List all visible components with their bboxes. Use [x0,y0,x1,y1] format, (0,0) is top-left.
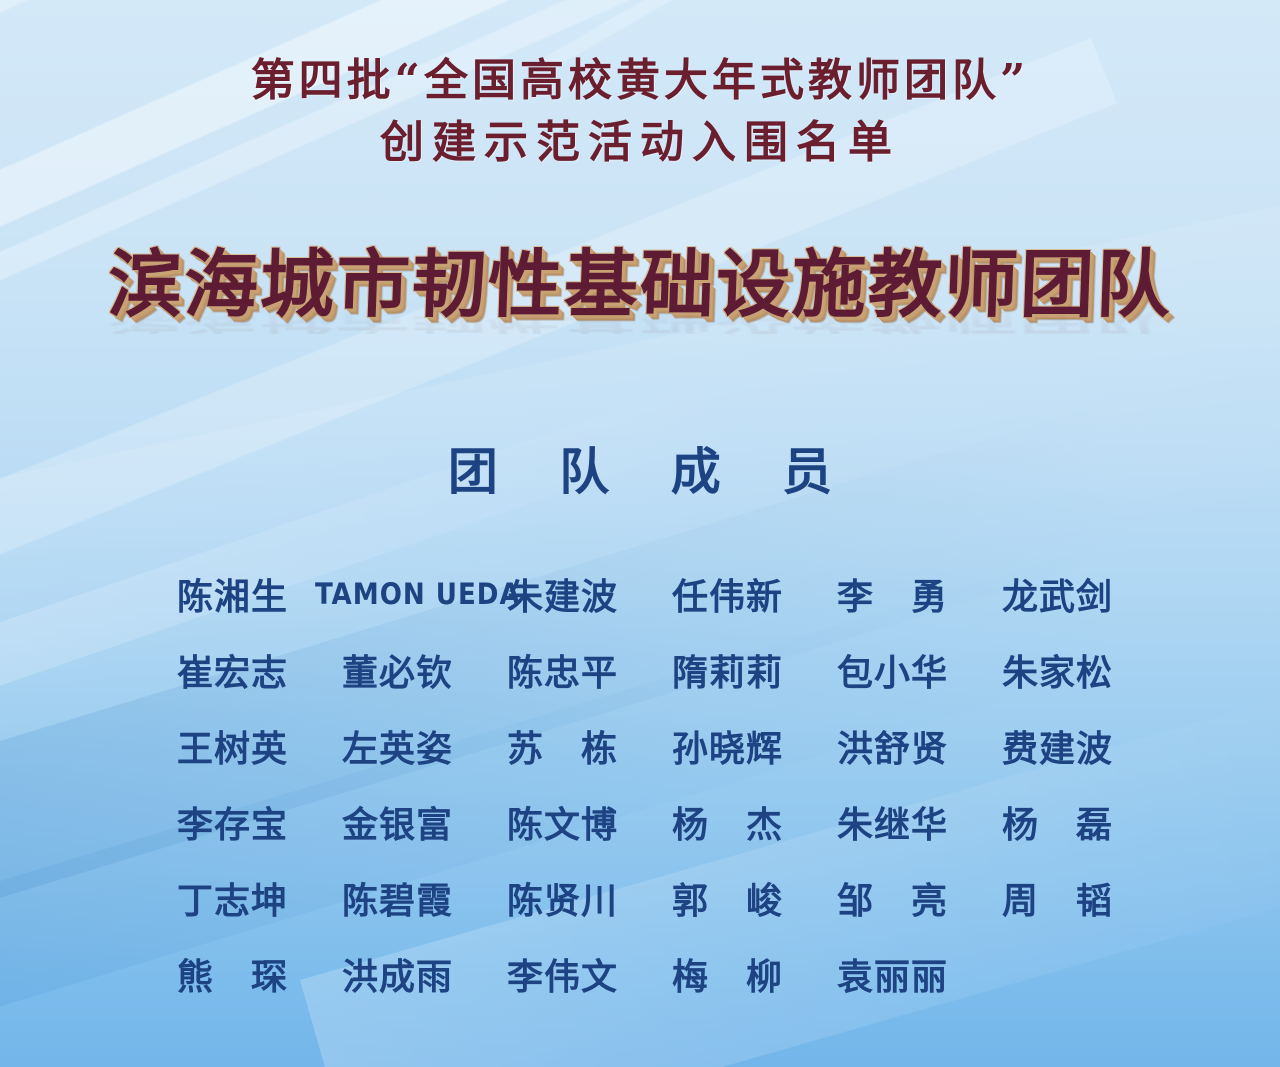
team-member-name: 苏 栋 [480,720,645,772]
team-member-grid: 陈湘生TAMON UEDA朱建波任伟新李 勇龙武剑崔宏志董必钦陈忠平隋莉莉包小华… [150,556,1140,1012]
team-member-name: 龙武剑 [975,568,1140,620]
team-member-name: 洪舒贤 [810,720,975,772]
team-member-name: 杨 杰 [645,796,810,848]
team-member-name: 熊 琛 [150,948,315,1000]
team-member-name: 袁丽丽 [810,948,975,1000]
team-member-name: 李存宝 [150,796,315,848]
team-member-name: 孙晓辉 [645,720,810,772]
team-member-name: 梅 柳 [645,948,810,1000]
slide-header-title: 第四批“全国高校黄大年式教师团队” 创建示范活动入围名单 [0,50,1280,175]
team-member-name: 朱继华 [810,796,975,848]
team-name: 滨海城市韧性基础设施教师团队 [107,248,1174,322]
team-member-name: 隋莉莉 [645,644,810,696]
presentation-slide: 第四批“全国高校黄大年式教师团队” 创建示范活动入围名单 滨海城市韧性基础设施教… [0,0,1280,1067]
section-heading-team-members: 团 队 成 员 [0,432,1280,504]
team-member-name: 陈忠平 [480,644,645,696]
team-member-name: 丁志坤 [150,872,315,924]
team-member-name: 陈文博 [480,796,645,848]
team-member-name: 李伟文 [480,948,645,1000]
team-member-name: 董必钦 [315,644,480,696]
header-title-line-1: 第四批“全国高校黄大年式教师团队” [0,50,1280,112]
team-member-row: 丁志坤陈碧霞陈贤川郭 峻邹 亮周 韬 [150,860,1140,936]
team-member-name: 郭 峻 [645,872,810,924]
team-member-name: 杨 磊 [975,796,1140,848]
team-member-name: 左英姿 [315,720,480,772]
team-name-block: 滨海城市韧性基础设施教师团队 滨海城市韧性基础设施教师团队 [0,248,1280,408]
team-member-name: 任伟新 [645,568,810,620]
team-member-name: 金银富 [315,796,480,848]
team-member-row: 王树英左英姿苏 栋孙晓辉洪舒贤费建波 [150,708,1140,784]
team-member-name: 朱家松 [975,644,1140,696]
team-member-row: 崔宏志董必钦陈忠平隋莉莉包小华朱家松 [150,632,1140,708]
team-member-name: 陈湘生 [150,568,315,620]
team-member-name: 洪成雨 [315,948,480,1000]
team-member-name: TAMON UEDA [315,577,480,611]
team-member-name: 王树英 [150,720,315,772]
team-member-name: 周 韬 [975,872,1140,924]
team-member-row: 熊 琛洪成雨李伟文梅 柳袁丽丽 [150,936,1140,1012]
header-title-line-2: 创建示范活动入围名单 [0,112,1280,174]
team-member-name: 李 勇 [810,568,975,620]
team-member-row: 李存宝金银富陈文博杨 杰朱继华杨 磊 [150,784,1140,860]
team-member-name: 崔宏志 [150,644,315,696]
team-member-name: 费建波 [975,720,1140,772]
team-member-row: 陈湘生TAMON UEDA朱建波任伟新李 勇龙武剑 [150,556,1140,632]
team-member-name: 包小华 [810,644,975,696]
team-member-name: 朱建波 [480,568,645,620]
team-member-name: 陈贤川 [480,872,645,924]
team-member-name: 陈碧霞 [315,872,480,924]
team-member-name: 邹 亮 [810,872,975,924]
